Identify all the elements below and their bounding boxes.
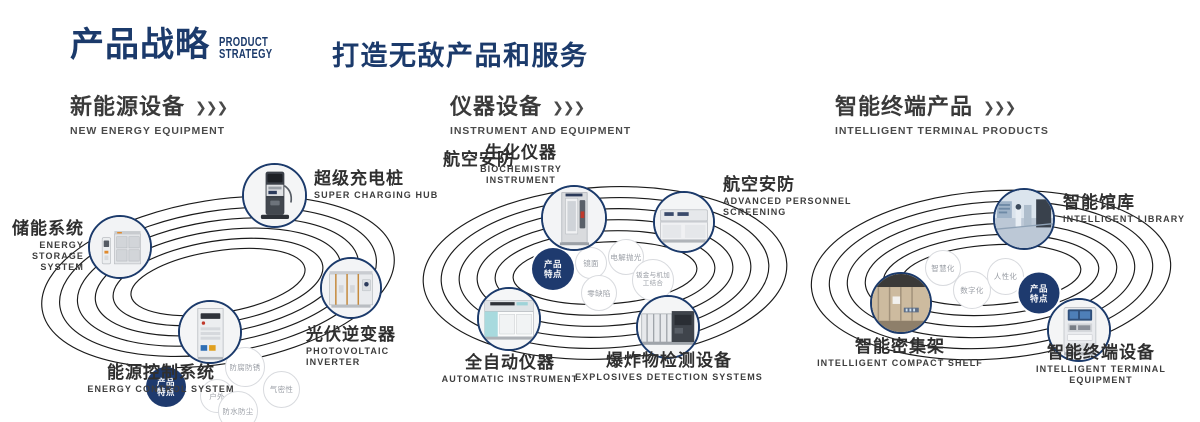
page-title-cn: 产品战略 bbox=[70, 28, 210, 62]
caption-cn: 爆炸物检测设备 bbox=[573, 351, 765, 370]
caption-en: ENERGY CONTROL SYSTEM bbox=[66, 384, 256, 395]
caption-en: EXPLOSIVES DETECTION SYSTEMS bbox=[573, 372, 765, 383]
product-strategy-infographic: 产品战略 PRODUCT STRATEGY 打造无敌产品和服务 新能源设备 ❯❯… bbox=[0, 0, 1200, 422]
feature-bubble: 气密性 bbox=[263, 371, 300, 408]
screening-machine-photo bbox=[655, 193, 713, 251]
section-title-en: INTELLIGENT TERMINAL PRODUCTS bbox=[835, 125, 1049, 137]
caption-intelligent-terminal-equipment: 智能终端设备 INTELLIGENT TERMINAL EQUIPMENT bbox=[1003, 343, 1199, 386]
caption-en: INTELLIGENT COMPACT SHELF bbox=[815, 358, 985, 369]
chevrons-right-icon: ❯❯❯ bbox=[552, 100, 584, 114]
section-title-en: NEW ENERGY EQUIPMENT bbox=[70, 125, 227, 137]
caption-intelligent-compact-shelf: 智能密集架 INTELLIGENT COMPACT SHELF bbox=[815, 337, 985, 369]
caption-cn: 储能系统 bbox=[4, 219, 84, 238]
library-room-photo bbox=[995, 190, 1053, 248]
core-line2: 特点 bbox=[1030, 293, 1048, 303]
tagline: 打造无敌产品和服务 bbox=[332, 34, 589, 73]
node-biochemistry-instrument[interactable] bbox=[541, 185, 607, 251]
caption-biochemistry-instrument: 生化仪器 BIOCHEMISTRY INSTRUMENT bbox=[465, 143, 577, 186]
section-title-cn: 仪器设备 bbox=[450, 96, 542, 118]
compact-shelf-photo bbox=[872, 274, 930, 332]
caption-cn: 生化仪器 bbox=[465, 143, 577, 162]
caption-cn: 智能密集架 bbox=[815, 337, 985, 356]
feature-bubble: 镜面 bbox=[575, 247, 607, 279]
node-explosives-detection[interactable] bbox=[636, 295, 700, 359]
feature-bubble: 零缺陷 bbox=[581, 275, 617, 311]
energy-storage-cabinet-photo bbox=[90, 217, 150, 277]
caption-explosives-detection: 爆炸物检测设备 EXPLOSIVES DETECTION SYSTEMS bbox=[573, 351, 765, 383]
node-automatic-instrument[interactable] bbox=[477, 287, 541, 351]
section-heading-intelligent: 智能终端产品 ❯❯❯ INTELLIGENT TERMINAL PRODUCTS bbox=[835, 96, 1049, 137]
section-title-en: INSTRUMENT AND EQUIPMENT bbox=[450, 125, 631, 137]
cluster-instrument: 产品 特点 镜面 电解抛光 钣金与机加工结合 零缺陷 航空安防 bbox=[405, 155, 805, 405]
caption-en: ENERGY STORAGE SYSTEM bbox=[4, 240, 84, 273]
cluster-intelligent: 智慧化 数字化 人性化 产品 特点 bbox=[795, 155, 1195, 405]
node-intelligent-compact-shelf[interactable] bbox=[870, 272, 932, 334]
core-line2: 特点 bbox=[544, 269, 562, 279]
caption-en: INTELLIGENT LIBRARY bbox=[1063, 214, 1193, 225]
cluster-new-energy: 产品 特点 户外 防腐防锈 防水防尘 气密性 bbox=[20, 155, 420, 405]
section-title-cn: 智能终端产品 bbox=[835, 96, 973, 118]
node-advanced-personnel-screening[interactable] bbox=[653, 191, 715, 253]
control-cabinet-photo bbox=[180, 302, 240, 362]
automatic-analyzer-photo bbox=[479, 289, 539, 349]
chevrons-right-icon: ❯❯❯ bbox=[983, 100, 1015, 114]
core-line1: 产品 bbox=[544, 259, 562, 269]
security-scanner-photo bbox=[543, 187, 605, 249]
core-line1: 产品 bbox=[1030, 283, 1048, 293]
section-title-cn: 新能源设备 bbox=[70, 96, 185, 118]
chevrons-right-icon: ❯❯❯ bbox=[195, 100, 227, 114]
page-title-en-line2: STRATEGY bbox=[219, 48, 272, 60]
charging-pile-photo bbox=[244, 165, 305, 226]
node-photovoltaic-inverter[interactable] bbox=[320, 257, 382, 319]
caption-en: INTELLIGENT TERMINAL EQUIPMENT bbox=[1003, 364, 1199, 386]
caption-cn: 全自动仪器 bbox=[425, 353, 595, 372]
caption-automatic-instrument: 全自动仪器 AUTOMATIC INSTRUMENT bbox=[425, 353, 595, 385]
node-energy-storage[interactable] bbox=[88, 215, 152, 279]
caption-cn: 智能馆库 bbox=[1063, 193, 1193, 212]
node-intelligent-library[interactable] bbox=[993, 188, 1055, 250]
section-heading-instrument: 仪器设备 ❯❯❯ INSTRUMENT AND EQUIPMENT bbox=[450, 96, 631, 137]
node-energy-control-system[interactable] bbox=[178, 300, 242, 364]
node-super-charging-hub[interactable] bbox=[242, 163, 307, 228]
caption-cn: 能源控制系统 bbox=[66, 363, 256, 382]
caption-energy-storage: 储能系统 ENERGY STORAGE SYSTEM bbox=[4, 219, 84, 273]
masthead: 产品战略 PRODUCT STRATEGY bbox=[70, 28, 289, 62]
explosive-detector-photo bbox=[638, 297, 698, 357]
caption-energy-control-system: 能源控制系统 ENERGY CONTROL SYSTEM bbox=[66, 363, 256, 395]
pv-inverter-cabinet-photo bbox=[322, 259, 380, 317]
caption-intelligent-library: 智能馆库 INTELLIGENT LIBRARY bbox=[1063, 193, 1193, 225]
page-title-en: PRODUCT STRATEGY bbox=[219, 36, 272, 60]
section-heading-new-energy: 新能源设备 ❯❯❯ NEW ENERGY EQUIPMENT bbox=[70, 96, 227, 137]
caption-en: AUTOMATIC INSTRUMENT bbox=[425, 374, 595, 385]
feature-bubble: 数字化 bbox=[953, 271, 991, 309]
core-bubble-product-features: 产品 特点 bbox=[532, 248, 574, 290]
caption-cn: 智能终端设备 bbox=[1003, 343, 1199, 362]
caption-en: BIOCHEMISTRY INSTRUMENT bbox=[465, 164, 577, 186]
